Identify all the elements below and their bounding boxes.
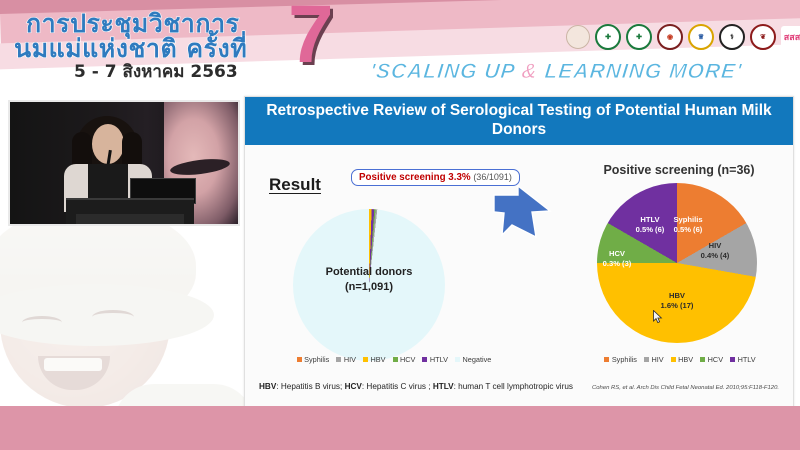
- legend2-swatch-htlv: [730, 357, 735, 362]
- legend2-label-syphilis: Syphilis: [612, 355, 637, 364]
- baby-teeth: [44, 358, 102, 371]
- conference-date-thai: 5 - 7 สิงหาคม 2563: [74, 58, 238, 85]
- tagline-part1: 'SCALING UP: [369, 60, 523, 83]
- slice-value-hcv: 0.3% (3): [593, 259, 641, 269]
- legend-swatch-hcv: [393, 357, 398, 362]
- legend-swatch-htlv: [422, 357, 427, 362]
- abbr-htlv: HTLV: [433, 382, 454, 391]
- logo-ministry-health-2-icon: ✚: [626, 24, 652, 50]
- legend2-item-hbv: HBV: [671, 355, 694, 364]
- legend-label-hcv: HCV: [400, 355, 415, 364]
- mouse-cursor-icon: [653, 310, 663, 324]
- potential-donors-title: Potential donors: [293, 265, 445, 280]
- conference-tagline: 'SCALING UP & LEARNING MORE': [369, 60, 744, 84]
- legend-swatch-hiv: [336, 357, 341, 362]
- abbr-hbv-def: : Hepatitis B virus;: [276, 382, 344, 391]
- flow-arrow-icon: [492, 185, 554, 241]
- slice-label-hbv: HBV 1.6% (17): [647, 291, 707, 311]
- legend-item-syphilis: Syphilis: [297, 355, 330, 364]
- logo-ministry-health-1-icon: ✚: [595, 24, 621, 50]
- legend2-label-hiv: HIV: [651, 355, 663, 364]
- result-heading: Result: [269, 175, 321, 195]
- logo-foundation-icon: [566, 25, 590, 49]
- legend-label-hbv: HBV: [370, 355, 385, 364]
- background-baby-photo: [0, 198, 244, 428]
- legend-swatch-hbv: [363, 357, 368, 362]
- sponsor-logo-row: ✚ ✚ ◉ ♕ ⚕ ❦ สสส: [566, 24, 800, 50]
- abbreviation-definitions: HBV: Hepatitis B virus; HCV: Hepatitis C…: [259, 382, 573, 391]
- legend2-label-htlv: HTLV: [738, 355, 756, 364]
- positive-screening-callout: Positive screening 3.3% (36/1091): [351, 169, 520, 186]
- presentation-screenshot: การประชุมวิชาการ นมแม่แห่งชาติ ครั้งที่ …: [0, 0, 800, 450]
- positive-screening-heading: Positive screening (n=36): [569, 163, 789, 177]
- abbr-htlv-def: : human T cell lymphotropic virus: [454, 382, 573, 391]
- slide-title: Retrospective Review of Serological Test…: [245, 97, 793, 145]
- callout-headline: Positive screening 3.3%: [359, 172, 471, 183]
- legend-potential-donors: Syphilis HIV HBV HCV HTLV Negative: [279, 355, 509, 364]
- legend-label-htlv: HTLV: [430, 355, 448, 364]
- logo-royal-seal-icon: ❦: [750, 24, 776, 50]
- legend2-swatch-hiv: [644, 357, 649, 362]
- legend-swatch-negative: [455, 357, 460, 362]
- source-citation: Cohen RS, et al. Arch Dis Child Fetal Ne…: [592, 385, 779, 391]
- abbr-hcv-def: : Hepatitis C virus ;: [362, 382, 433, 391]
- slice-name-hiv: HIV: [687, 241, 743, 251]
- projected-eye: [169, 156, 230, 177]
- legend-positive-screening: Syphilis HIV HBV HCV HTLV: [575, 355, 785, 364]
- potential-donors-count: (n=1,091): [293, 280, 445, 295]
- legend-item-htlv: HTLV: [422, 355, 448, 364]
- legend2-item-hiv: HIV: [644, 355, 664, 364]
- tagline-part2: LEARNING MORE': [537, 60, 744, 83]
- legend-label-negative: Negative: [463, 355, 492, 364]
- legend2-swatch-hcv: [700, 357, 705, 362]
- legend2-item-htlv: HTLV: [730, 355, 756, 364]
- abbr-hcv: HCV: [345, 382, 362, 391]
- logo-university-icon: ⚕: [719, 24, 745, 50]
- podium-base: [76, 214, 184, 226]
- slice-label-hcv: HCV 0.3% (3): [593, 249, 641, 269]
- legend-swatch-syphilis: [297, 357, 302, 362]
- legend-item-hbv: HBV: [363, 355, 386, 364]
- legend2-item-hcv: HCV: [700, 355, 723, 364]
- logo-thaihealth-icon: สสส: [781, 26, 800, 48]
- callout-fraction: (36/1091): [473, 172, 512, 182]
- slice-value-hiv: 0.4% (4): [687, 251, 743, 261]
- legend-item-hcv: HCV: [393, 355, 416, 364]
- conference-banner: การประชุมวิชาการ นมแม่แห่งชาติ ครั้งที่ …: [0, 0, 800, 95]
- legend-label-syphilis: Syphilis: [304, 355, 329, 364]
- legend2-label-hbv: HBV: [678, 355, 693, 364]
- potential-donors-pie-label: Potential donors (n=1,091): [293, 265, 445, 295]
- presentation-slide: Retrospective Review of Serological Test…: [244, 96, 794, 408]
- slice-name-htlv: HTLV: [623, 215, 677, 225]
- conference-edition-number: 7: [288, 0, 334, 76]
- legend2-label-hcv: HCV: [708, 355, 723, 364]
- slice-value-htlv: 0.5% (6): [623, 225, 677, 235]
- legend2-item-syphilis: Syphilis: [604, 355, 637, 364]
- legend2-swatch-syphilis: [604, 357, 609, 362]
- slice-label-hiv: HIV 0.4% (4): [687, 241, 743, 261]
- baby-eye-left: [22, 316, 62, 329]
- slide-footnote: HBV: Hepatitis B virus; HCV: Hepatitis C…: [259, 382, 779, 391]
- slice-name-hcv: HCV: [593, 249, 641, 259]
- legend-label-hiv: HIV: [344, 355, 356, 364]
- baby-eye-right: [92, 310, 134, 324]
- legend2-swatch-hbv: [671, 357, 676, 362]
- legend-item-hiv: HIV: [336, 355, 356, 364]
- slice-name-hbv: HBV: [647, 291, 707, 301]
- legend-item-negative: Negative: [455, 355, 491, 364]
- bottom-pink-band: [0, 406, 800, 450]
- slice-label-htlv: HTLV 0.5% (6): [623, 215, 677, 235]
- logo-royal-crest-icon: ♕: [688, 24, 714, 50]
- logo-royal-emblem-icon: ◉: [657, 24, 683, 50]
- abbr-hbv: HBV: [259, 382, 276, 391]
- speaker-video-inset[interactable]: [8, 100, 240, 226]
